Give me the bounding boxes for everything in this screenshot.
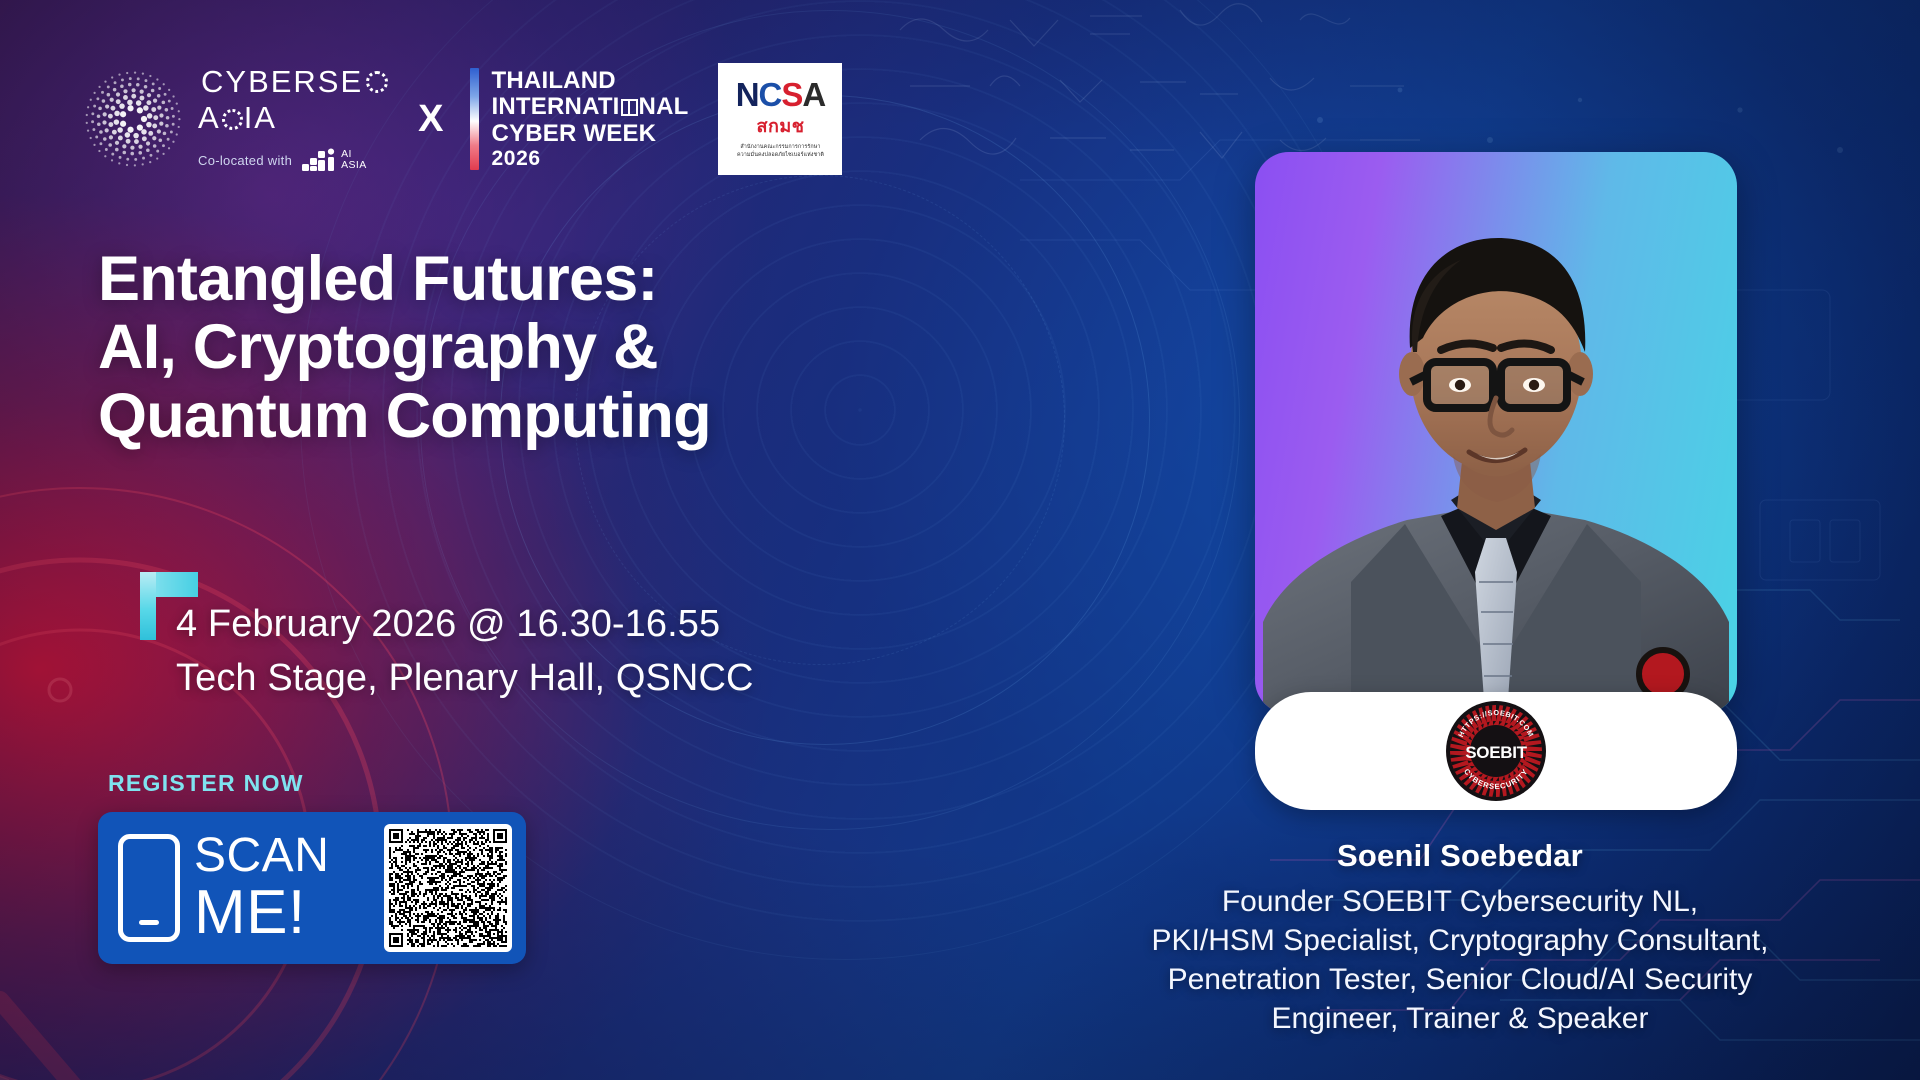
cybersec-wordmark-line2: A IA	[198, 101, 388, 136]
soebit-logo-icon: SOEBIT HTTPS://SOEBIT.COM CYBERSECURITY	[1444, 699, 1548, 803]
ai-asia-wordmark: AI ASIA	[341, 149, 367, 172]
ncsa-logo: N C S A สกมช สำนักงานคณะกรรมการการรักษา …	[718, 63, 842, 175]
accent-vertical-arm	[140, 572, 156, 640]
ticw-gradient-bar	[470, 68, 479, 170]
scan-word: SCAN	[194, 832, 329, 879]
speaker-bio: Founder SOEBIT Cybersecurity NL, PKI/HSM…	[960, 882, 1920, 1038]
session-title-line-3: Quantum Computing	[98, 382, 998, 450]
logo-separator-x: X	[418, 98, 443, 141]
ticw-line3: CYBER WEEK	[492, 121, 689, 147]
scan-me-qr-card[interactable]: SCAN ME!	[98, 812, 526, 964]
cybersec-wordmark-line1: CYBERSE	[198, 66, 388, 97]
me-word: ME!	[194, 883, 329, 944]
speaker-bio-line-4: Engineer, Trainer & Speaker	[960, 999, 1920, 1038]
dotted-spiral-icon	[84, 70, 182, 168]
ncsa-wordmark: N C S A	[736, 79, 826, 110]
speaker-photo	[1255, 152, 1737, 714]
speaker-bio-line-3: Penetration Tester, Senior Cloud/AI Secu…	[960, 960, 1920, 999]
ncsa-letter-a: A	[802, 79, 825, 110]
o-glyph-icon	[621, 99, 638, 116]
soebit-wordmark: SOEBIT	[1465, 743, 1527, 762]
ticw-line2: INTERNATINAL	[492, 94, 689, 120]
cybersec-asia-logo: CYBERSE A IA Co-located with	[198, 66, 388, 173]
session-details: 4 February 2026 @ 16.30-16.55 Tech Stage…	[176, 598, 754, 706]
thailand-international-cyber-week-logo: THAILAND INTERNATINAL CYBER WEEK 2026	[470, 68, 689, 170]
ticw-line1: THAILAND	[492, 68, 689, 94]
speaker-name: Soenil Soebedar	[1000, 838, 1920, 874]
qr-code-icon[interactable]	[384, 824, 512, 952]
partner-logo-bar: CYBERSE A IA Co-located with	[84, 60, 842, 178]
scan-me-text: SCAN ME!	[194, 832, 329, 944]
ncsa-letter-n: N	[736, 79, 759, 110]
session-venue: Tech Stage, Plenary Hall, QSNCC	[176, 652, 754, 706]
session-datetime: 4 February 2026 @ 16.30-16.55	[176, 598, 754, 652]
speaker-bio-line-2: PKI/HSM Specialist, Cryptography Consult…	[960, 921, 1920, 960]
colocated-with-row: Co-located with	[198, 148, 388, 172]
session-title: Entangled Futures: AI, Cryptography & Qu…	[98, 245, 998, 450]
ncsa-thai-acronym: สกมช	[757, 111, 805, 140]
ai-asia-mark-icon	[302, 148, 336, 172]
colocated-label: Co-located with	[198, 153, 292, 168]
ai-asia-logo: AI ASIA	[302, 148, 367, 172]
dotted-circle-glyph	[222, 109, 243, 130]
company-logo-badge: SOEBIT HTTPS://SOEBIT.COM CYBERSECURITY	[1255, 692, 1737, 810]
register-now-label: REGISTER NOW	[108, 770, 304, 797]
ncsa-letter-s: S	[781, 79, 802, 110]
ncsa-letter-c: C	[759, 79, 782, 110]
ncsa-thai-subtitle: สำนักงานคณะกรรมการการรักษา ความมั่นคงปลอ…	[737, 144, 824, 159]
session-title-line-2: AI, Cryptography &	[98, 313, 998, 381]
ticw-year: 2026	[492, 147, 689, 170]
session-title-line-1: Entangled Futures:	[98, 245, 998, 313]
speaker-bio-line-1: Founder SOEBIT Cybersecurity NL,	[960, 882, 1920, 921]
ticw-wordmark: THAILAND INTERNATINAL CYBER WEEK 2026	[492, 68, 689, 170]
mobile-phone-icon	[118, 834, 180, 942]
dotted-circle-glyph	[366, 71, 388, 93]
promo-banner: CYBERSE A IA Co-located with	[0, 0, 1920, 1080]
